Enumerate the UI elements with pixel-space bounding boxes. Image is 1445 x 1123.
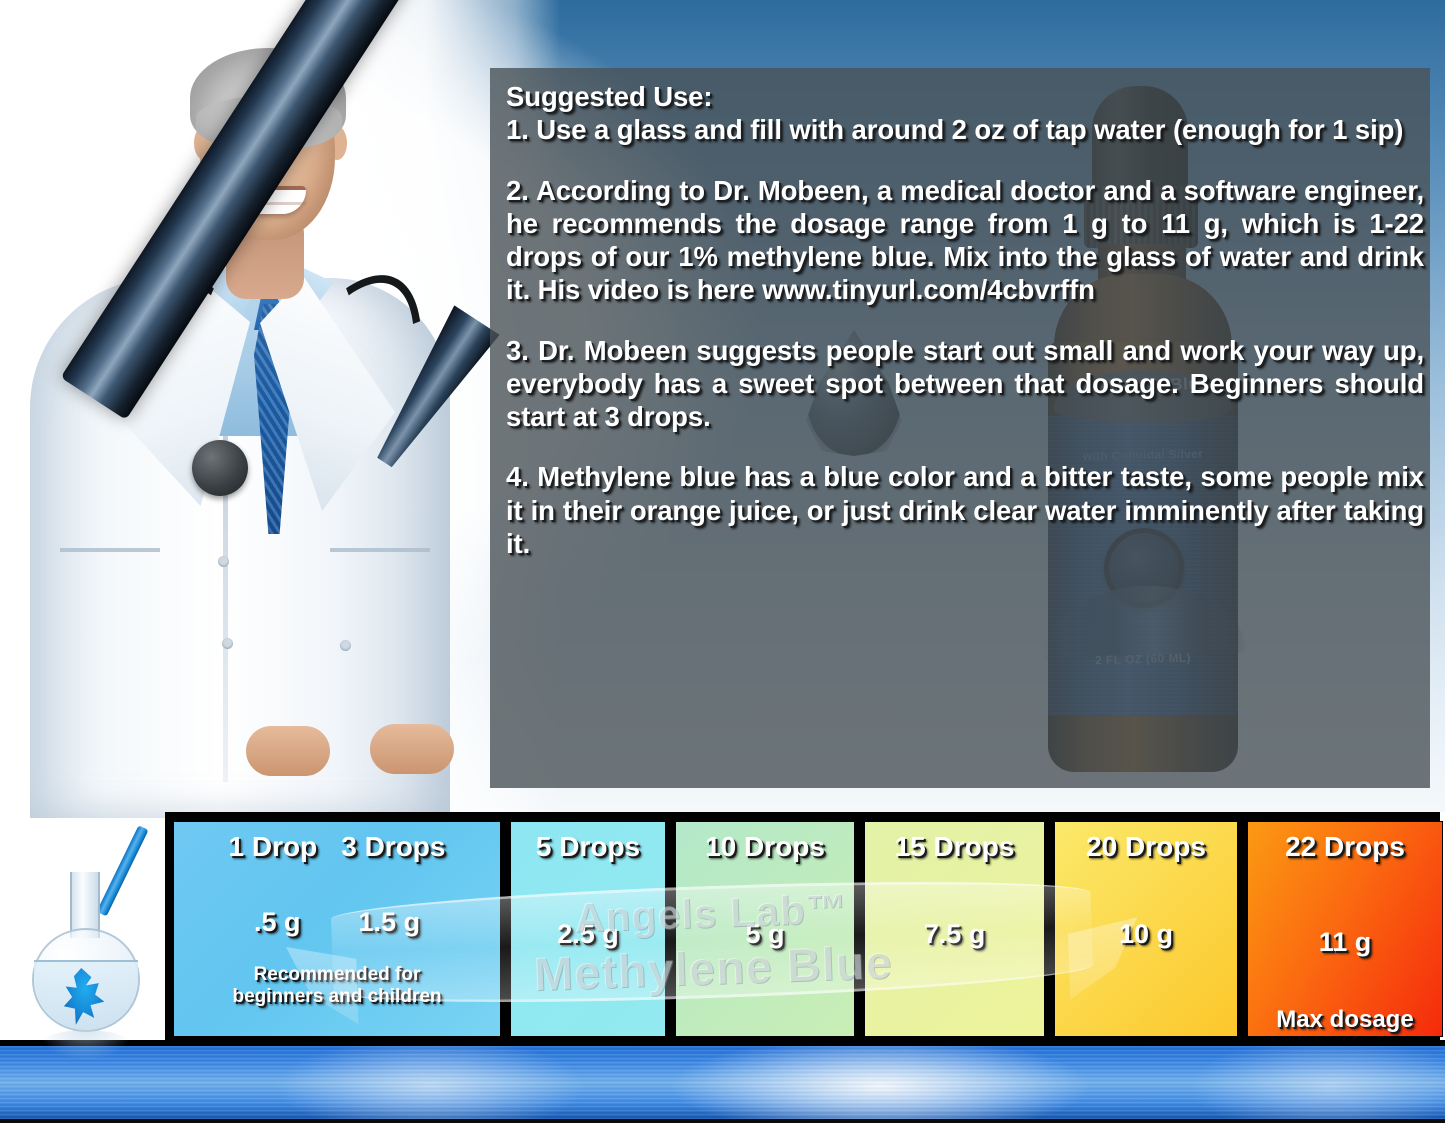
- dosage-card-20-drops[interactable]: 20 Drops 10 g: [1054, 821, 1238, 1037]
- coat-button-3: [340, 640, 351, 651]
- dosage-grams-label: 10 g: [1119, 919, 1173, 950]
- dosage-drops-label: 1 Drop: [229, 831, 318, 863]
- dosage-card-10-drops[interactable]: 10 Drops 5 g: [675, 821, 855, 1037]
- dosage-drops-label: 10 Drops: [705, 831, 825, 863]
- coat-button-1: [218, 556, 229, 567]
- dosage-grams-label: 7.5 g: [924, 919, 986, 950]
- dosage-drops-label: 15 Drops: [895, 831, 1015, 863]
- dosage-grams-label: 2.5 g: [557, 919, 619, 950]
- dosage-grams-label: 11 g: [1319, 927, 1372, 958]
- instructions-text: Suggested Use: 1. Use a glass and fill w…: [506, 80, 1424, 560]
- dosage-drops-label: 22 Drops: [1285, 831, 1405, 863]
- instruction-item-4: 4. Methylene blue has a blue color and a…: [506, 460, 1424, 560]
- dosage-drops-label: 20 Drops: [1086, 831, 1206, 863]
- flask-reflection: [40, 1030, 132, 1060]
- instruction-item-2: 2. According to Dr. Mobeen, a medical do…: [506, 174, 1424, 307]
- dosage-chart: 1 Drop 3 Drops .5 g 1.5 g Recommended fo…: [165, 812, 1440, 1046]
- stethoscope-chestpiece: [192, 440, 248, 496]
- flask-photo: [10, 820, 160, 1046]
- blue-pipette-icon: [97, 825, 149, 916]
- dosage-drops-label: 3 Drops: [341, 831, 445, 863]
- dosage-grams-label: 5 g: [745, 919, 784, 950]
- dosage-grams-label: .5 g: [254, 907, 301, 938]
- hand-left: [246, 726, 330, 776]
- instruction-item-3: 3. Dr. Mobeen suggests people start out …: [506, 334, 1424, 434]
- dosage-card-1-3-drops[interactable]: 1 Drop 3 Drops .5 g 1.5 g Recommended fo…: [173, 821, 501, 1037]
- bottom-black-edge: [0, 1119, 1445, 1123]
- instruction-item-1: 1. Use a glass and fill with around 2 oz…: [506, 113, 1424, 146]
- dosage-drops-label: 5 Drops: [536, 831, 640, 863]
- coat-pocket-right: [330, 548, 430, 552]
- product-instruction-graphic: Methylene Blue with Colloidal Silver 2 F…: [0, 0, 1445, 1123]
- instructions-heading: Suggested Use:: [506, 80, 1424, 113]
- dosage-card-22-drops[interactable]: 22 Drops 11 g Max dosage: [1247, 821, 1443, 1037]
- dosage-card-5-drops[interactable]: 5 Drops 2.5 g: [510, 821, 666, 1037]
- dosage-note: Max dosage: [1276, 1006, 1413, 1034]
- coat-button-2: [222, 638, 233, 649]
- hand-right: [370, 724, 454, 774]
- coat-pocket-left: [60, 548, 160, 552]
- dosage-grams-label: 1.5 g: [358, 907, 420, 938]
- dosage-card-15-drops[interactable]: 15 Drops 7.5 g: [864, 821, 1045, 1037]
- dosage-note: Recommended forbeginners and children: [232, 964, 441, 1008]
- water-reflection-strip: [0, 1046, 1445, 1119]
